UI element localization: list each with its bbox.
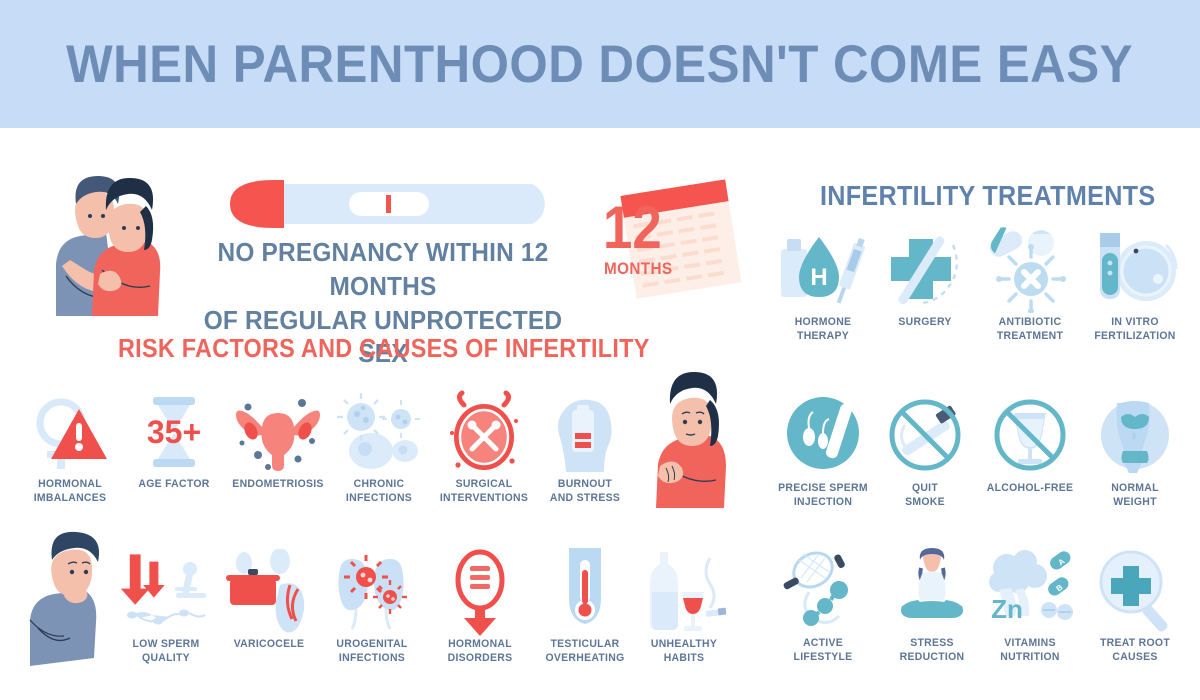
page-title: WHEN PARENTHOOD DOESN'T COME EASY xyxy=(67,34,1134,95)
treatment-item-label: PRECISE SPERM INJECTION xyxy=(771,482,876,510)
calendar-number: 12 xyxy=(603,198,662,258)
calendar-unit-value: MONTHS xyxy=(604,259,672,278)
female-warning-icon xyxy=(22,386,118,478)
risk-item-chronic-infections[interactable]: CHRONIC INFECTIONS xyxy=(331,386,427,506)
treatment-item-stress-reduction[interactable]: STRESS REDUCTION xyxy=(877,545,987,665)
no-alcohol-icon xyxy=(975,390,1085,482)
uterus-icon xyxy=(223,386,333,478)
treatment-item-surgery[interactable]: SURGERY xyxy=(877,224,973,330)
treatment-item-label: HORMONE THERAPY xyxy=(771,316,876,344)
risk-item-label: ENDOMETRIOSIS xyxy=(226,478,331,492)
risk-item-label: HORMONAL DISORDERS xyxy=(428,638,533,666)
treatment-item-label: SURGERY xyxy=(879,316,970,330)
treatment-item-hormone-therapy[interactable]: H HORMONE THERAPY xyxy=(768,224,878,344)
risk-item-label: SURGICAL INTERVENTIONS xyxy=(432,478,537,506)
risk-item-label: TESTICULAR OVERHEATING xyxy=(533,638,638,666)
treatment-item-label: TREAT ROOT CAUSES xyxy=(1083,637,1188,665)
treatment-item-label: IN VITRO FERTILIZATION xyxy=(1083,316,1188,344)
hero-line-1: NO PREGNANCY WITHIN 12 MONTHS xyxy=(176,236,590,304)
bacteria-cells-icon xyxy=(331,386,427,478)
risk-item-hormonal-imbalances[interactable]: HORMONAL IMBALANCES xyxy=(22,386,118,506)
body-weight-icon xyxy=(1080,390,1190,482)
low-battery-head-icon xyxy=(537,386,633,478)
treatment-item-label: QUIT SMOKE xyxy=(879,482,970,510)
risk-item-low-sperm-quality[interactable]: LOW SPERM QUALITY xyxy=(111,546,221,666)
risk-item-label: UNHEALTHY HABITS xyxy=(638,638,729,666)
risk-item-endometriosis[interactable]: ENDOMETRIOSIS xyxy=(223,386,333,492)
treatment-item-active-lifestyle[interactable]: ACTIVE LIFESTYLE xyxy=(768,545,878,665)
treatment-item-in-vitro-fertilization[interactable]: IN VITRO FERTILIZATION xyxy=(1080,224,1190,344)
pregnancy-test-illustration xyxy=(204,176,554,237)
hormone-down-arrow-icon xyxy=(425,546,535,638)
treatments-heading: INFERTILITY TREATMENTS xyxy=(820,180,1155,212)
treatment-item-treat-root-causes[interactable]: TREAT ROOT CAUSES xyxy=(1080,545,1190,665)
risk-heading: RISK FACTORS AND CAUSES OF INFERTILITY xyxy=(118,333,650,364)
zinc-badge: Zn xyxy=(991,594,1023,624)
treatment-item-antibiotic-treatment[interactable]: ANTIBIOTIC TREATMENT xyxy=(975,224,1085,344)
risk-item-label: VARICOCELE xyxy=(223,638,314,652)
treatment-item-label: ACTIVE LIFESTYLE xyxy=(771,637,876,665)
woman-illustration xyxy=(638,368,744,513)
thermometer-icon xyxy=(530,546,640,638)
svg-text:35+: 35+ xyxy=(147,414,201,450)
header-banner: WHEN PARENTHOOD DOESN'T COME EASY xyxy=(0,0,1200,128)
risk-item-hormonal-disorders[interactable]: HORMONAL DISORDERS xyxy=(425,546,535,666)
risk-item-varicocele[interactable]: VARICOCELE xyxy=(221,546,317,652)
treatment-item-label: STRESS REDUCTION xyxy=(880,637,985,665)
hourglass-age-icon: 35+ xyxy=(126,386,222,478)
hormone-badge: H xyxy=(810,264,827,291)
sperm-injection-icon xyxy=(768,390,878,482)
broccoli-vitamins-icon: A B Zn xyxy=(975,545,1085,637)
risk-item-label: AGE FACTOR xyxy=(128,478,219,492)
racket-dumbbell-icon xyxy=(768,545,878,637)
risk-item-label: BURNOUT AND STRESS xyxy=(539,478,630,506)
risk-item-surgical-interventions[interactable]: SURGICAL INTERVENTIONS xyxy=(429,386,539,506)
treatment-item-label: ALCOHOL-FREE xyxy=(978,482,1083,496)
risk-item-label: HORMONAL IMBALANCES xyxy=(24,478,115,506)
risk-item-age-factor[interactable]: 35+ AGE FACTOR xyxy=(126,386,222,492)
kidneys-virus-icon xyxy=(317,546,427,638)
calendar-unit: MONTHS xyxy=(604,259,672,279)
risk-item-burnout-and-stress[interactable]: BURNOUT AND STRESS xyxy=(537,386,633,506)
treatment-item-vitamins-nutrition[interactable]: A B Zn VITAMINS NUTRITION xyxy=(975,545,1085,665)
magnifier-cross-icon xyxy=(1080,545,1190,637)
no-smoking-icon xyxy=(877,390,973,482)
test-tube-ovum-icon xyxy=(1080,224,1190,316)
treatment-item-alcohol-free[interactable]: ALCOHOL-FREE xyxy=(975,390,1085,496)
treatment-item-label: VITAMINS NUTRITION xyxy=(978,637,1083,665)
antibiotic-pills-virus-icon xyxy=(975,224,1085,316)
treatment-item-normal-weight[interactable]: NORMAL WEIGHT xyxy=(1080,390,1190,510)
treatment-item-label: NORMAL WEIGHT xyxy=(1083,482,1188,510)
risk-item-urogenital-infections[interactable]: UROGENITAL INFECTIONS xyxy=(317,546,427,666)
treatment-item-quit-smoke[interactable]: QUIT SMOKE xyxy=(877,390,973,510)
down-arrows-microscope-icon xyxy=(111,546,221,638)
risk-item-label: CHRONIC INFECTIONS xyxy=(333,478,424,506)
risk-item-unhealthy-habits[interactable]: UNHEALTHY HABITS xyxy=(636,546,732,666)
meditation-yoga-icon xyxy=(877,545,987,637)
risk-item-testicular-overheating[interactable]: TESTICULAR OVERHEATING xyxy=(530,546,640,666)
calendar-number-value: 12 xyxy=(603,194,662,261)
couple-illustration xyxy=(32,166,164,321)
alcohol-cigarette-icon xyxy=(636,546,732,638)
hormone-drop-syringe-icon: H xyxy=(768,224,878,316)
medical-cross-icon xyxy=(877,224,973,316)
surgery-tools-clock-icon xyxy=(429,386,539,478)
treatment-item-label: ANTIBIOTIC TREATMENT xyxy=(978,316,1083,344)
risk-item-label: LOW SPERM QUALITY xyxy=(114,638,219,666)
risk-item-label: UROGENITAL INFECTIONS xyxy=(320,638,425,666)
hot-pot-vein-icon xyxy=(221,546,317,638)
treatment-item-precise-sperm-injection[interactable]: PRECISE SPERM INJECTION xyxy=(768,390,878,510)
man-illustration xyxy=(8,528,114,671)
